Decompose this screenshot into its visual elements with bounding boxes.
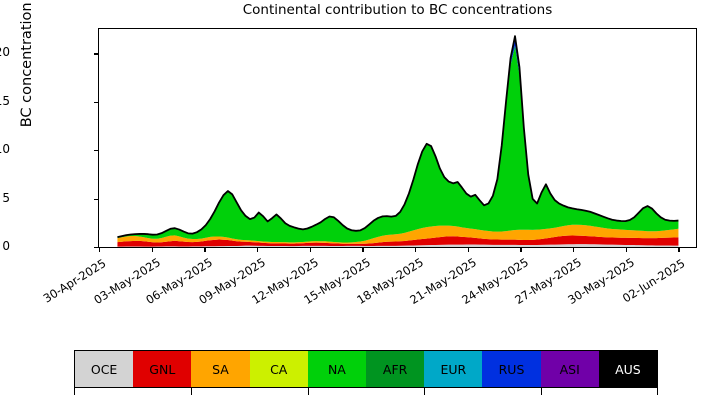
legend-tickmark (191, 388, 192, 395)
legend-item-asi[interactable]: ASI (541, 351, 599, 387)
x-axis-tickmark (310, 248, 311, 252)
x-axis-tickmark (573, 248, 574, 252)
legend-item-label: AFR (383, 362, 407, 377)
x-axis-tickmark (99, 248, 100, 252)
legend-item-ca[interactable]: CA (250, 351, 308, 387)
legend-tick-marks (74, 388, 658, 396)
area-afr (117, 46, 678, 237)
legend-tickmark (657, 388, 658, 395)
legend-item-eur[interactable]: EUR (424, 351, 482, 387)
total-outline-line (117, 36, 678, 237)
area-asi (117, 36, 678, 237)
legend-colorbar: OCEGNLSACANAAFREURRUSASIAUS (74, 350, 658, 388)
x-axis-tickmark (415, 248, 416, 252)
x-axis-tickmark (152, 248, 153, 252)
legend-item-sa[interactable]: SA (191, 351, 249, 387)
y-axis-tick-15: 15 (0, 94, 10, 108)
y-axis-tick-20: 20 (0, 45, 10, 59)
legend-item-oce[interactable]: OCE (75, 351, 133, 387)
legend-item-label: GNL (149, 362, 175, 377)
plot-area (98, 28, 697, 248)
legend-item-aus[interactable]: AUS (599, 351, 657, 387)
legend-item-na[interactable]: NA (308, 351, 366, 387)
x-axis-tickmark (468, 248, 469, 252)
legend-tickmark (541, 388, 542, 395)
legend-item-label: RUS (499, 362, 525, 377)
x-axis-tickmark (626, 248, 627, 252)
legend-item-label: EUR (440, 362, 466, 377)
area-eur (117, 46, 678, 237)
legend-item-label: AUS (615, 362, 641, 377)
page-title: Continental contribution to BC concentra… (98, 2, 697, 18)
legend-tickmark (308, 388, 309, 395)
area-rus (117, 36, 678, 237)
x-axis-tickmark (257, 248, 258, 252)
y-axis-tick-0: 0 (0, 239, 10, 253)
y-axis-tick-5: 5 (0, 191, 10, 205)
legend-item-label: CA (270, 362, 287, 377)
x-axis-tickmark (678, 248, 679, 252)
legend-tickmark (424, 388, 425, 395)
area-aus (117, 36, 678, 237)
legend-item-label: OCE (91, 362, 117, 377)
legend-tickmark (74, 388, 75, 395)
legend-item-label: NA (328, 362, 346, 377)
y-axis-label-text: BC concentration (ng m (19, 0, 35, 127)
legend-item-label: SA (212, 362, 229, 377)
chart-figure: Continental contribution to BC concentra… (0, 0, 711, 402)
x-axis-tickmark (362, 248, 363, 252)
y-axis-label: BC concentration (ng m−3) (17, 0, 35, 145)
x-axis-tickmark (204, 248, 205, 252)
stacked-area-svg (99, 29, 696, 247)
legend-item-afr[interactable]: AFR (366, 351, 424, 387)
x-axis-tickmark (520, 248, 521, 252)
legend-item-rus[interactable]: RUS (482, 351, 540, 387)
legend-item-gnl[interactable]: GNL (133, 351, 191, 387)
legend-item-label: ASI (560, 362, 580, 377)
y-axis-tick-10: 10 (0, 142, 10, 156)
